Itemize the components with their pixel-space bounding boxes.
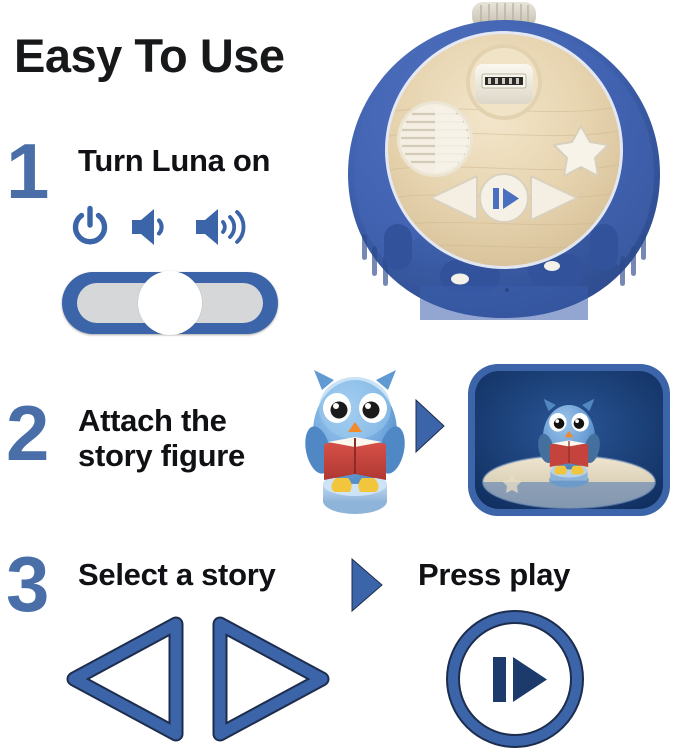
arrow-right-icon-step3	[348, 556, 386, 619]
play-button[interactable]	[444, 608, 586, 755]
volume-low-icon	[128, 206, 174, 248]
owl-attached-preview	[466, 362, 672, 518]
connector-port	[466, 44, 542, 120]
play-pause-button	[480, 174, 528, 222]
toggle-track	[77, 283, 263, 323]
step-2-numeral: 2	[6, 394, 49, 472]
luna-device-image	[332, 2, 676, 338]
page-title: Easy To Use	[14, 32, 285, 79]
play-triangle	[513, 657, 547, 702]
speaker-grille	[397, 101, 473, 177]
previous-story-triangle[interactable]	[58, 612, 188, 751]
power-icon	[70, 206, 110, 248]
step-1-heading: Turn Luna on	[78, 144, 270, 179]
toggle-knob[interactable]	[138, 271, 202, 335]
volume-high-icon	[192, 206, 252, 248]
owl-story-figure	[296, 358, 414, 520]
power-toggle-switch[interactable]	[62, 272, 278, 334]
next-story-triangle[interactable]	[208, 612, 338, 751]
power-volume-icon-row	[70, 206, 252, 248]
arrow-right-icon-step2	[412, 398, 448, 459]
step-3-heading-secondary: Press play	[418, 558, 570, 593]
step-2-heading: Attach the story figure	[78, 404, 308, 473]
step-3-heading: Select a story	[78, 558, 275, 593]
step-3-numeral: 3	[6, 545, 49, 623]
step-1-numeral: 1	[6, 132, 49, 210]
infographic-canvas: Easy To Use 1 Turn Luna on	[0, 0, 679, 753]
play-bar	[493, 657, 506, 702]
